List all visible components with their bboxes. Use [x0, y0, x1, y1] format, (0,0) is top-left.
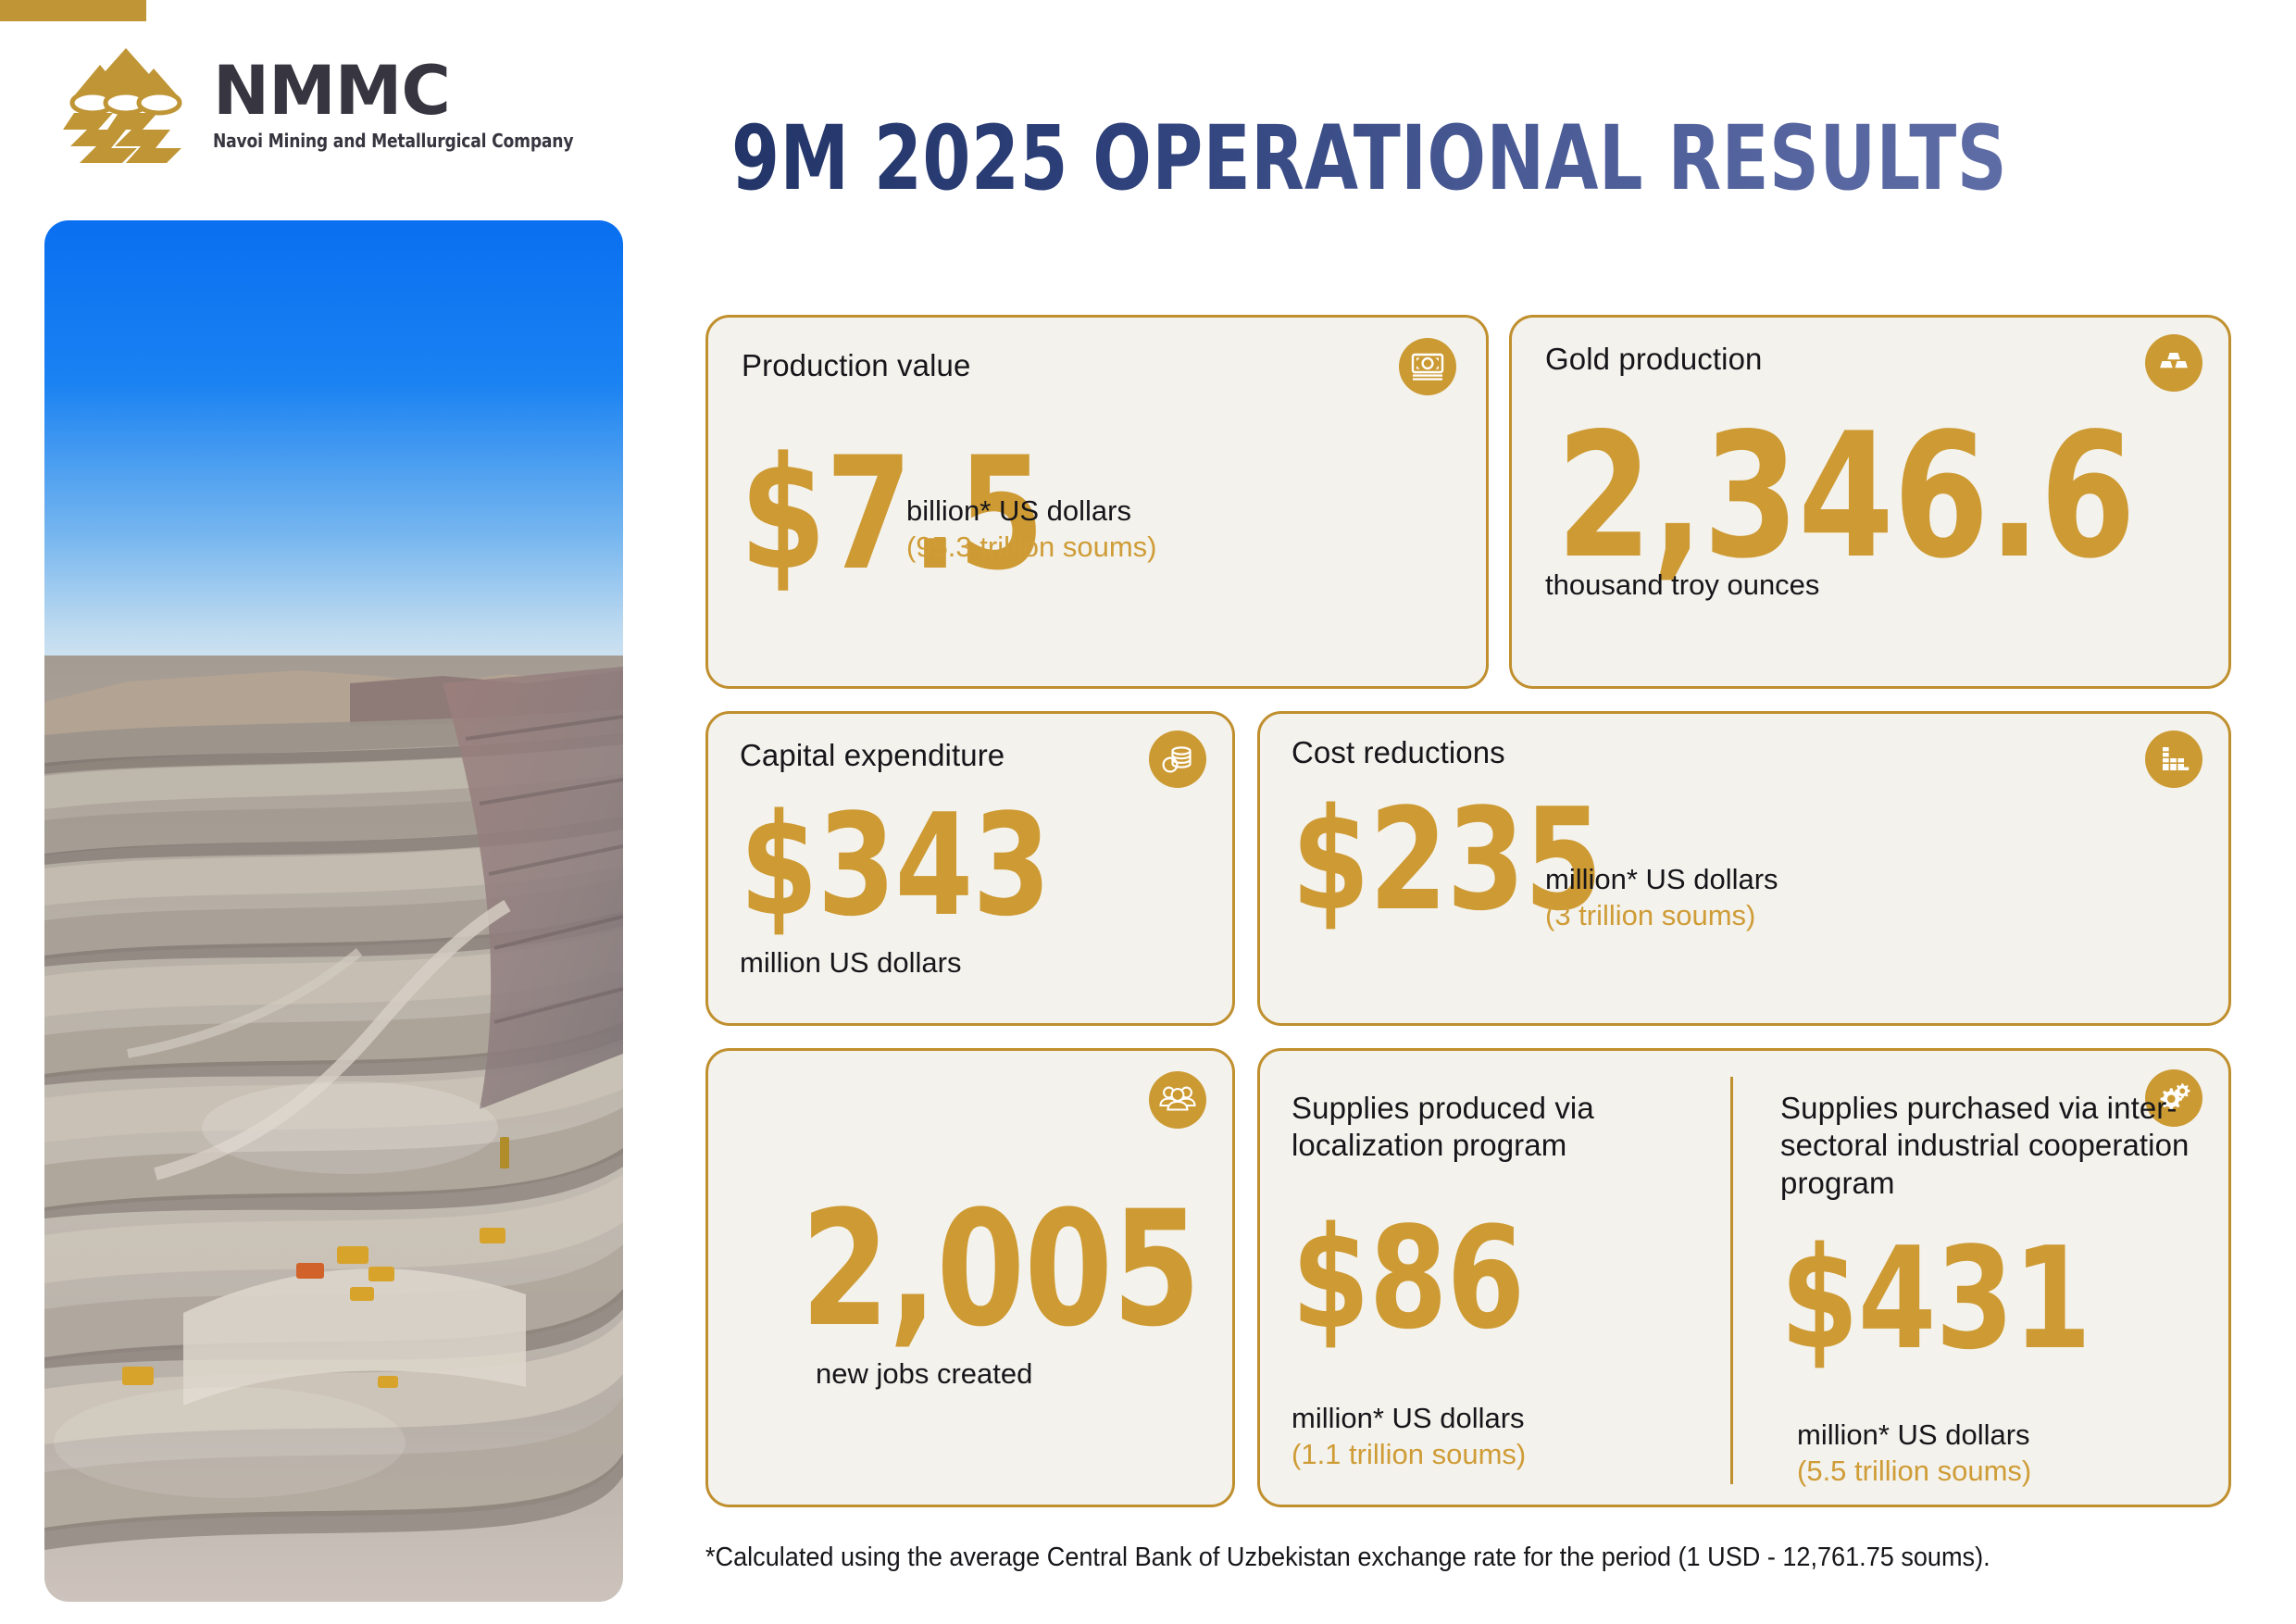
mountain-ore-logo-icon: [57, 44, 194, 167]
people-group-icon: [1149, 1071, 1206, 1129]
card-unit-label: million* US dollars: [1291, 1402, 1525, 1434]
card-soums-label: (5.5 trillion soums): [1797, 1454, 2031, 1490]
card-value: 2,005: [801, 1190, 1200, 1349]
card-title: Supplies purchased via inter-sectoral in…: [1780, 1090, 2215, 1202]
bar-chart-icon: [2145, 731, 2202, 788]
company-logo: NMMC Navoi Mining and Metallurgical Comp…: [57, 44, 601, 167]
card-soums-label: (95.3 trillion soums): [906, 530, 1156, 566]
card-unit-label: thousand troy ounces: [1545, 568, 1819, 601]
footnote: *Calculated using the average Central Ba…: [705, 1543, 1990, 1573]
card-value: $431: [1780, 1229, 2090, 1369]
logo-tagline: Navoi Mining and Metallurgical Company: [213, 130, 573, 152]
card-unit: million* US dollars (5.5 trillion soums): [1797, 1418, 2031, 1490]
card-unit-label: billion* US dollars: [906, 494, 1131, 527]
card-unit: new jobs created: [816, 1356, 1032, 1393]
card-unit: thousand troy ounces: [1545, 568, 1819, 604]
card-title: Gold production: [1545, 341, 1762, 378]
card-title: Supplies produced via localization progr…: [1291, 1090, 1699, 1165]
card-unit: million* US dollars (3 trillion soums): [1545, 862, 1778, 934]
card-supplies: Supplies produced via localization progr…: [1257, 1048, 2231, 1507]
infographic-page: NMMC Navoi Mining and Metallurgical Comp…: [0, 0, 2296, 1624]
coins-icon: [1149, 731, 1206, 788]
card-title: Capital expenditure: [740, 737, 1004, 774]
panel-divider: [1730, 1077, 1733, 1484]
content-column: 9M 2025 OPERATIONAL RESULTS Production v…: [648, 0, 2296, 1624]
gold-bars-icon: [2145, 334, 2202, 392]
left-column: NMMC Navoi Mining and Metallurgical Comp…: [0, 0, 648, 1624]
card-soums-label: (1.1 trillion soums): [1291, 1437, 1526, 1473]
open-pit-mine-photo: [44, 220, 623, 1602]
card-title: Production value: [742, 347, 970, 384]
card-cost-reductions: Cost reductions $235: [1257, 711, 2231, 1026]
card-unit-label: million US dollars: [740, 946, 961, 979]
card-unit: billion* US dollars (95.3 trillion soums…: [906, 493, 1156, 566]
card-value: $343: [740, 795, 1050, 936]
card-title: Cost reductions: [1291, 734, 1505, 771]
card-unit: million* US dollars (1.1 trillion soums): [1291, 1401, 1526, 1473]
card-value: 2,346.6: [1556, 410, 2135, 582]
card-soums-label: (3 trillion soums): [1545, 898, 1778, 934]
card-unit-label: new jobs created: [816, 1357, 1032, 1390]
card-new-jobs: 2,005 new jobs created: [705, 1048, 1235, 1507]
card-value: $86: [1291, 1208, 1524, 1349]
card-production-value: Production value $7.5 billion* US dollar…: [705, 315, 1489, 689]
card-gold-production: Gold production 2,346.6 thousand troy ou…: [1509, 315, 2231, 689]
card-unit-label: million* US dollars: [1797, 1418, 2030, 1451]
logo-wordmark: NMMC: [213, 59, 601, 123]
card-capital-expenditure: Capital expenditure $343 million US doll…: [705, 711, 1235, 1026]
card-unit-label: million* US dollars: [1545, 863, 1778, 895]
banknote-icon: [1399, 338, 1456, 395]
page-title: 9M 2025 OPERATIONAL RESULTS: [731, 106, 2007, 210]
card-unit: million US dollars: [740, 945, 961, 981]
